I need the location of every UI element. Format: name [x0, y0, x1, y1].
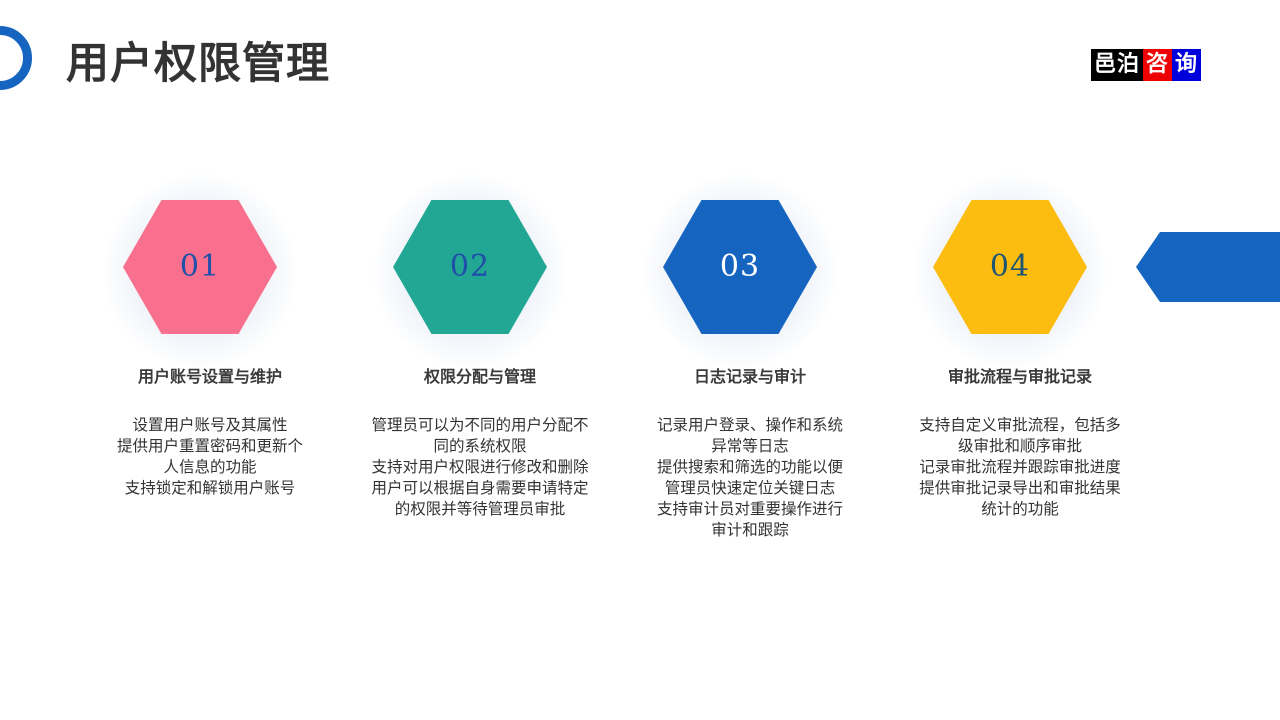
step-hex-zone: 03 [615, 160, 885, 375]
logo-segment-blue: 询 [1172, 49, 1201, 81]
page-title: 用户权限管理 [66, 36, 330, 92]
step-number-3: 03 [720, 252, 760, 282]
step-item-1[interactable]: 01 用户账号设置与维护 设置用户账号及其属性 提供用户重置密码和更新个 人信息… [75, 160, 345, 541]
step-body-3: 记录用户登录、操作和系统 异常等日志 提供搜索和筛选的功能以便 管理员快速定位关… [615, 415, 885, 541]
logo-segment-red: 咨 [1143, 49, 1172, 81]
step-hex-zone: 02 [345, 160, 615, 375]
steps-row: 01 用户账号设置与维护 设置用户账号及其属性 提供用户重置密码和更新个 人信息… [0, 160, 1280, 541]
circle-ring-icon [0, 26, 32, 90]
step-number-1: 01 [180, 252, 220, 282]
step-item-3[interactable]: 03 日志记录与审计 记录用户登录、操作和系统 异常等日志 提供搜索和筛选的功能… [615, 160, 885, 541]
step-body-2: 管理员可以为不同的用户分配不 同的系统权限 支持对用户权限进行修改和删除 用户可… [345, 415, 615, 520]
slide-header: 用户权限管理 邑泊 咨 询 [0, 0, 1280, 130]
step-hex-zone: 04 [885, 160, 1155, 375]
step-body-1: 设置用户账号及其属性 提供用户重置密码和更新个 人信息的功能 支持锁定和解锁用户… [75, 415, 345, 499]
step-hex-zone: 01 [75, 160, 345, 375]
step-number-2: 02 [450, 252, 490, 282]
logo-segment-black: 邑泊 [1091, 49, 1143, 81]
brand-logo: 邑泊 咨 询 [1090, 48, 1202, 82]
next-step-chevron[interactable] [1136, 232, 1280, 302]
step-item-4[interactable]: 04 审批流程与审批记录 支持自定义审批流程，包括多 级审批和顺序审批 记录审批… [885, 160, 1155, 541]
step-item-2[interactable]: 02 权限分配与管理 管理员可以为不同的用户分配不 同的系统权限 支持对用户权限… [345, 160, 615, 541]
step-number-4: 04 [990, 252, 1030, 282]
step-body-4: 支持自定义审批流程，包括多 级审批和顺序审批 记录审批流程并跟踪审批进度 提供审… [885, 415, 1155, 520]
